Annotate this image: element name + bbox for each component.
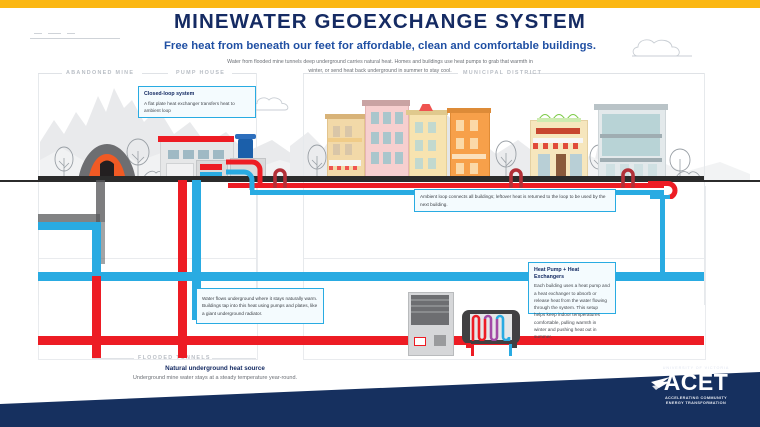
acet-logo: UNIVERSITY OF VICTORIA ACET ACCELERATING… [644, 366, 748, 406]
cloud-icon [252, 95, 298, 112]
callout-heat-pump-title: Heat Pump + Heat Exchangers [534, 267, 610, 280]
heat-pump-display [414, 337, 426, 346]
heat-pump-controls [434, 335, 446, 346]
heat-pump-grille-slat [411, 305, 449, 307]
rowhouse-window [428, 122, 436, 133]
office-glass-band [602, 138, 660, 156]
zone-divider-1 [38, 73, 39, 305]
top-accent-bar [0, 0, 760, 8]
rowhouse-cream-cornice [325, 114, 365, 119]
logo-tagline-2: ENERGY TRANSFORMATION [644, 401, 748, 406]
office-roof [594, 104, 668, 110]
rowhouse-window [333, 144, 340, 155]
shop-awning-icon [329, 160, 361, 170]
callout-closed-loop-title: Closed-loop system [144, 91, 250, 98]
heat-exchanger-foot [466, 343, 471, 348]
pipe-riser-building-1 [272, 168, 294, 188]
heat-exchanger-hot-leg [471, 344, 474, 356]
rowhouse-window [456, 120, 464, 131]
callout-heat-pump: Heat Pump + Heat Exchangers Each buildin… [528, 262, 616, 314]
mine-adit-horizontal [38, 214, 100, 222]
rowhouse-window [333, 126, 340, 137]
pipe-pumphouse-to-loop [222, 158, 268, 192]
page-description: Water from flooded mine tunnels deep und… [225, 58, 535, 75]
callout-ambient-loop-body: Ambient loop connects all buildings; lef… [420, 193, 610, 208]
rowhouse-window [470, 138, 478, 149]
rowhouse-window [470, 163, 478, 174]
rowhouse-orange-cornice [447, 108, 491, 113]
callout-water-flow: Water flows underground where it stays n… [196, 288, 324, 324]
rowhouse-band [452, 154, 486, 159]
office-floor-divider [600, 158, 662, 162]
pipe-riser-building-2 [508, 168, 530, 188]
pipe-borehole-hot [178, 180, 187, 358]
rowhouse-window [428, 140, 436, 151]
rowhouse-window [383, 112, 391, 124]
pump-house-window [183, 150, 194, 159]
pipe-riser-hot-mine [92, 276, 101, 358]
pump-house-window [198, 150, 209, 159]
rowhouse-band [328, 138, 362, 142]
heat-exchanger-coils [470, 313, 512, 341]
pipe-tunnel-cold-branch [38, 222, 100, 230]
rowhouse-pink-cornice [362, 100, 410, 106]
footer-caption-title: Natural underground heat source [0, 365, 430, 372]
rowhouse-window [415, 140, 423, 151]
pump-tank-cap [235, 134, 256, 139]
rowhouse-window [456, 138, 464, 149]
heat-exchanger-hot-band [200, 164, 222, 170]
heat-exchanger-foot [512, 343, 517, 348]
shop-sign [536, 128, 580, 134]
pipe-riser-cold-mine [92, 222, 101, 278]
infographic-canvas: MINEWATER GEOEXCHANGE SYSTEM Free heat f… [0, 0, 760, 427]
rowhouse-window [470, 120, 478, 131]
zone-divider-3 [303, 73, 304, 305]
rowhouse-window [456, 163, 464, 174]
rowhouse-window [371, 112, 379, 124]
zone-label-flooded-tunnels: FLOODED TUNNELS [138, 355, 211, 361]
shop-awning-icon [533, 138, 583, 149]
rowhouse-window [383, 132, 391, 144]
pump-tank-icon [238, 138, 253, 158]
header-block: MINEWATER GEOEXCHANGE SYSTEM Free heat f… [0, 10, 760, 75]
callout-ambient-loop: Ambient loop connects all buildings; lef… [414, 189, 616, 212]
page-subtitle: Free heat from beneath our feet for affo… [0, 40, 760, 52]
rooftop-garden-icon [536, 106, 582, 122]
office-floor-divider [600, 134, 662, 138]
pipe-right-cold-down [660, 195, 665, 277]
office-glass-band [602, 114, 660, 134]
rowhouse-window [428, 158, 436, 169]
callout-closed-loop: Closed-loop system A flat plate heat exc… [138, 86, 256, 118]
pump-house-roof [158, 136, 234, 142]
rowhouse-window [415, 158, 423, 169]
pump-house-window [168, 150, 179, 159]
zone-rule-tunnels-left [92, 358, 134, 359]
zone-rule-tunnels-right [212, 358, 256, 359]
rowhouse-window [345, 144, 352, 155]
rowhouse-window [415, 122, 423, 133]
pipe-riser-building-3 [620, 168, 642, 188]
callout-water-flow-body: Water flows underground where it stays n… [202, 295, 318, 317]
uvic-wing-icon [650, 373, 672, 399]
rowhouse-window [395, 132, 403, 144]
callout-closed-loop-body: A flat plate heat exchanger transfers he… [144, 100, 250, 115]
rowhouse-window [395, 152, 403, 164]
rowhouse-window [383, 152, 391, 164]
page-title: MINEWATER GEOEXCHANGE SYSTEM [0, 10, 760, 34]
zone-divider-4 [704, 73, 705, 305]
rowhouse-window [345, 126, 352, 137]
rowhouse-window [395, 112, 403, 124]
rowhouse-window [371, 132, 379, 144]
callout-heat-pump-body: Each building uses a heat pump and a hea… [534, 282, 610, 340]
heat-pump-grille-slat [411, 311, 449, 313]
rowhouse-window [371, 152, 379, 164]
heat-pump-grille-slat [411, 299, 449, 301]
